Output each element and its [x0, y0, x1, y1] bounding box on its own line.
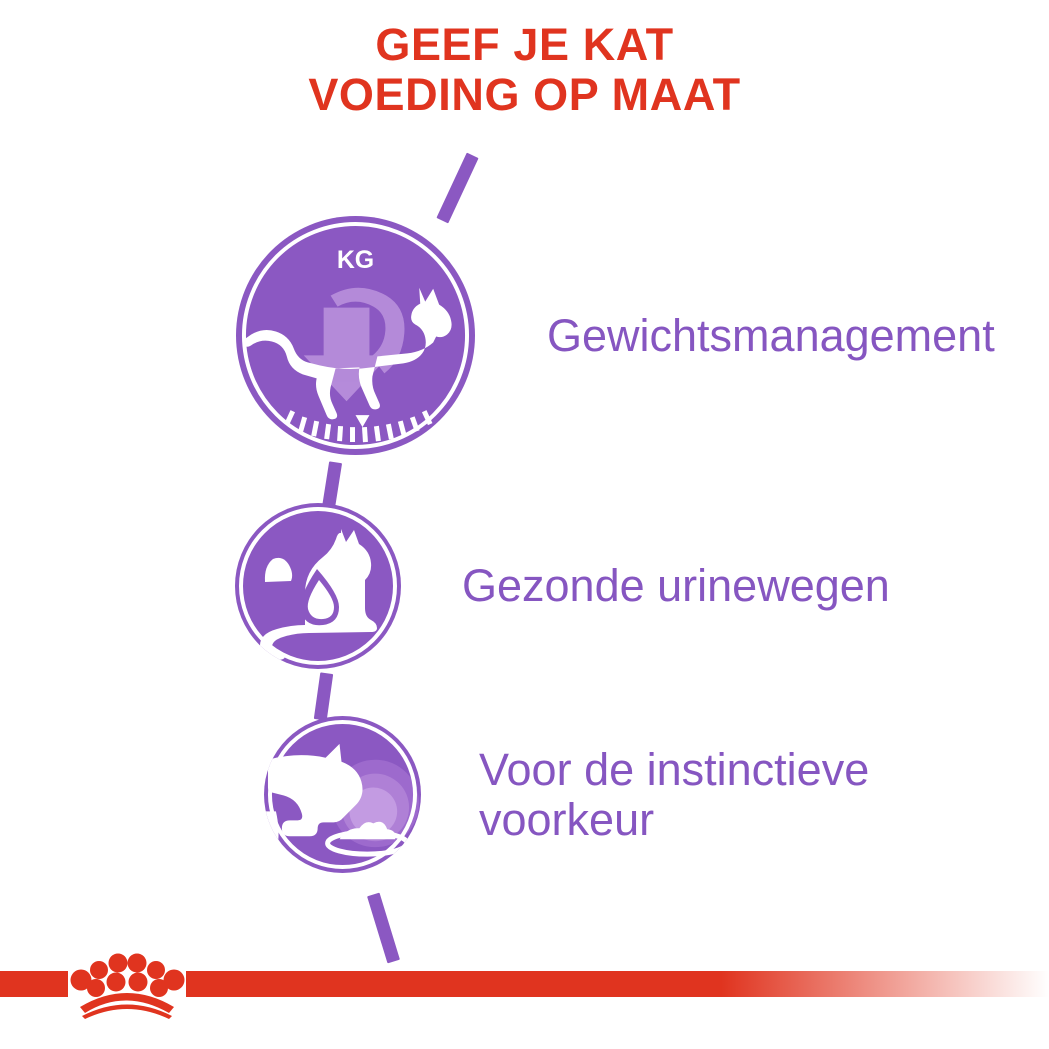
kg-label: KG: [337, 246, 374, 274]
footer-bar-left: [0, 971, 68, 997]
cat-on-scale-weight-icon: KG: [236, 216, 475, 455]
benefit-row-urinary: Gezonde urinewegen: [235, 503, 890, 669]
royal-canin-crown-logo: [68, 948, 186, 1020]
connector-dash-top: [436, 153, 478, 224]
cat-water-droplet-urinary-icon: [235, 503, 401, 669]
footer-bar-right: [186, 971, 1049, 997]
benefit-label-urinary: Gezonde urinewegen: [462, 561, 890, 611]
title-line-1: GEEF JE KAT: [0, 22, 1049, 68]
benefit-label-weight: Gewichtsmanagement: [547, 311, 995, 361]
poster-canvas: GEEF JE KAT VOEDING OP MAAT KG: [0, 0, 1049, 1049]
connector-dash-bottom: [367, 893, 400, 964]
benefit-row-weight: KG: [236, 216, 995, 455]
benefit-row-instinct: Voor de instinctieve voorkeur: [264, 716, 869, 873]
title-line-2: VOEDING OP MAAT: [0, 72, 1049, 118]
page-title: GEEF JE KAT VOEDING OP MAAT: [0, 22, 1049, 118]
benefit-label-instinct: Voor de instinctieve voorkeur: [479, 745, 869, 844]
cat-eating-bowl-icon: [264, 716, 421, 873]
connector-dash-2-3: [314, 672, 333, 720]
